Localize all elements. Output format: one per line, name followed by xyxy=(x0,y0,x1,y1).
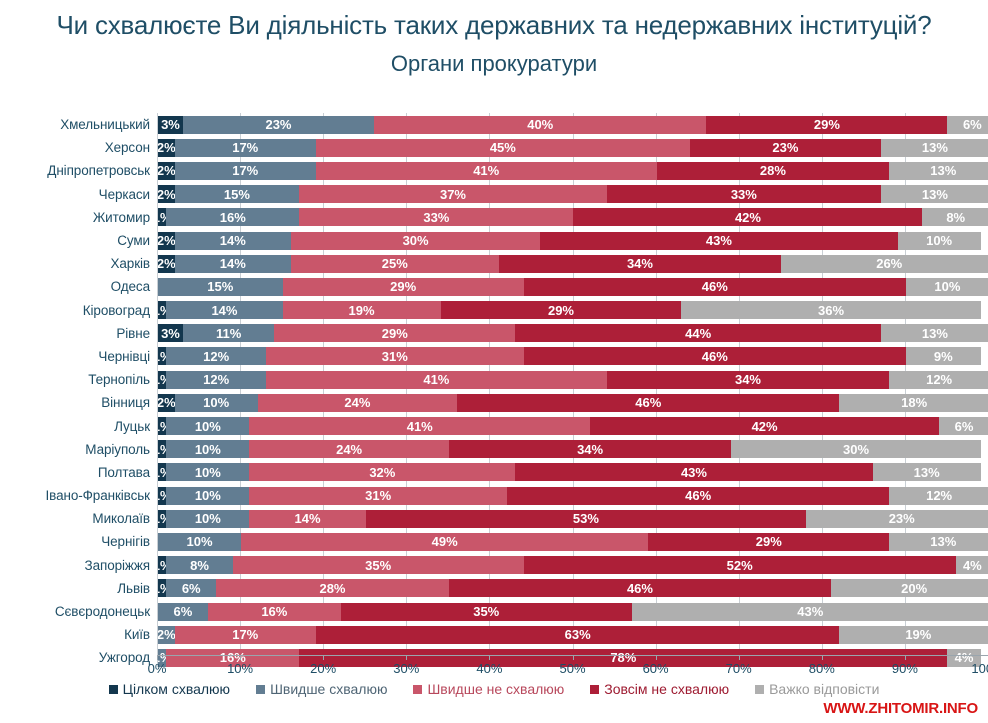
row-label: Сєвєродонецьк xyxy=(0,604,157,619)
x-tick-label: 60% xyxy=(643,661,669,676)
watermark: WWW.ZHITOMIR.INFO xyxy=(823,700,978,717)
bar-segment: 15% xyxy=(175,185,300,203)
bar-segment: 12% xyxy=(166,371,266,389)
chart-row: Дніпропетровськ2%17%41%28%13% xyxy=(0,159,988,182)
bar-segment: 1% xyxy=(158,347,166,365)
legend: Цілком схвалююШвидше схвалююШвидше не сх… xyxy=(0,681,988,697)
bar-segment: 46% xyxy=(507,487,889,505)
bar-segment: 10% xyxy=(166,417,249,435)
bar-segment: 10% xyxy=(158,533,241,551)
legend-item[interactable]: Швидше схвалюю xyxy=(256,681,387,697)
bar-segment: 1% xyxy=(158,417,166,435)
bar-segment: 13% xyxy=(881,324,988,342)
bar-segment: 30% xyxy=(731,440,980,458)
stacked-bar: 6%16%35%43% xyxy=(157,603,988,621)
row-label: Рівне xyxy=(0,326,157,341)
bar-segment: 33% xyxy=(607,185,881,203)
bar-segment: 31% xyxy=(266,347,524,365)
legend-swatch-icon xyxy=(413,685,422,694)
bar-segment: 2% xyxy=(158,232,175,250)
bar-rows: Хмельницький3%23%40%29%6%Херсон2%17%45%2… xyxy=(0,113,988,670)
bar-segment: 30% xyxy=(291,232,540,250)
legend-label: Швидше схвалюю xyxy=(270,681,387,697)
bar-segment: 1% xyxy=(158,208,166,226)
row-label: Кіровоград xyxy=(0,303,157,318)
row-label: Одеса xyxy=(0,279,157,294)
bar-segment: 24% xyxy=(258,394,457,412)
x-tick-label: 80% xyxy=(809,661,835,676)
row-label: Івано-Франківськ xyxy=(0,488,157,503)
legend-item[interactable]: Цілком схвалюю xyxy=(109,681,230,697)
chart-row: Полтава1%10%32%43%13% xyxy=(0,461,988,484)
bar-segment: 6% xyxy=(947,116,988,134)
bar-segment: 10% xyxy=(175,394,258,412)
bar-segment: 6% xyxy=(166,579,216,597)
bar-segment: 29% xyxy=(283,278,524,296)
x-tick-label: 70% xyxy=(726,661,752,676)
row-label: Дніпропетровськ xyxy=(0,163,157,178)
bar-segment: 46% xyxy=(524,278,906,296)
bar-segment: 28% xyxy=(657,162,890,180)
chart-row: Вінниця2%10%24%46%18% xyxy=(0,391,988,414)
row-label: Черкаси xyxy=(0,187,157,202)
bar-segment: 34% xyxy=(499,255,782,273)
bar-segment: 1% xyxy=(158,487,166,505)
legend-label: Швидше не схвалюю xyxy=(427,681,564,697)
bar-segment: 49% xyxy=(241,533,648,551)
bar-segment: 13% xyxy=(889,162,988,180)
stacked-bar: 1%8%35%52%4% xyxy=(157,556,988,574)
row-label: Харків xyxy=(0,256,157,271)
row-label: Київ xyxy=(0,627,157,642)
chart-subtitle: Органи прокуратури xyxy=(0,51,988,77)
chart-row: Миколаїв1%10%14%53%23% xyxy=(0,507,988,530)
x-tick xyxy=(489,655,490,660)
chart-row: Сєвєродонецьк6%16%35%43% xyxy=(0,600,988,623)
chart-row: Одеса15%29%46%10% xyxy=(0,275,988,298)
bar-segment: 12% xyxy=(889,371,988,389)
x-tick xyxy=(905,655,906,660)
bar-segment: 11% xyxy=(183,324,274,342)
x-tick-label: 90% xyxy=(892,661,918,676)
stacked-bar: 2%10%24%46%18% xyxy=(157,394,988,412)
row-label: Чернігів xyxy=(0,534,157,549)
bar-segment: 1% xyxy=(158,371,166,389)
bar-segment: 14% xyxy=(175,255,291,273)
bar-segment: 1% xyxy=(158,556,166,574)
bar-segment: 46% xyxy=(457,394,839,412)
stacked-bar: 1%12%41%34%12% xyxy=(157,371,988,389)
row-label: Хмельницький xyxy=(0,117,157,132)
bar-segment: 10% xyxy=(166,463,249,481)
bar-segment: 29% xyxy=(441,301,682,319)
bar-segment: 16% xyxy=(208,603,341,621)
bar-segment: 42% xyxy=(573,208,922,226)
x-tick xyxy=(822,655,823,660)
bar-segment: 63% xyxy=(316,626,840,644)
bar-segment: 41% xyxy=(266,371,607,389)
stacked-bar: 1%16%33%42%8% xyxy=(157,208,988,226)
bar-segment: 2% xyxy=(158,185,175,203)
bar-segment: 16% xyxy=(166,208,299,226)
title-block: Чи схвалюєте Ви діяльність таких державн… xyxy=(0,0,988,77)
bar-segment: 13% xyxy=(881,139,988,157)
row-label: Житомир xyxy=(0,210,157,225)
stacked-bar: 2%17%63%19% xyxy=(157,626,988,644)
chart-row: Кіровоград1%14%19%29%36% xyxy=(0,299,988,322)
bar-segment: 10% xyxy=(166,487,249,505)
bar-segment: 6% xyxy=(158,603,208,621)
bar-segment: 33% xyxy=(299,208,573,226)
stacked-bar: 1%10%14%53%23% xyxy=(157,510,988,528)
bar-segment: 35% xyxy=(341,603,632,621)
bar-segment: 32% xyxy=(249,463,515,481)
bar-segment: 10% xyxy=(906,278,988,296)
bar-segment: 23% xyxy=(183,116,374,134)
bar-segment: 13% xyxy=(881,185,988,203)
stacked-bar: 2%17%41%28%13% xyxy=(157,162,988,180)
row-label: Ужгород xyxy=(0,650,157,665)
x-tick-label: 100% xyxy=(971,661,988,676)
row-label: Чернівці xyxy=(0,349,157,364)
chart-row: Львів1%6%28%46%20% xyxy=(0,577,988,600)
chart-page: Чи схвалюєте Ви діяльність таких державн… xyxy=(0,0,988,723)
bar-segment: 19% xyxy=(283,301,441,319)
x-tick xyxy=(739,655,740,660)
row-label: Суми xyxy=(0,233,157,248)
bar-segment: 29% xyxy=(706,116,947,134)
bar-segment: 14% xyxy=(249,510,365,528)
bar-segment: 17% xyxy=(175,162,316,180)
bar-segment: 41% xyxy=(316,162,657,180)
stacked-bar: 10%49%29%13% xyxy=(157,533,988,551)
bar-segment: 10% xyxy=(166,440,249,458)
bar-segment: 12% xyxy=(889,487,988,505)
bar-segment: 10% xyxy=(166,510,249,528)
row-label: Луцьк xyxy=(0,419,157,434)
x-tick-label: 40% xyxy=(476,661,502,676)
bar-segment: 8% xyxy=(922,208,988,226)
bar-segment: 3% xyxy=(158,324,183,342)
chart-row: Тернопіль1%12%41%34%12% xyxy=(0,368,988,391)
stacked-bar: 1%10%32%43%13% xyxy=(157,463,988,481)
x-tick-label: 20% xyxy=(310,661,336,676)
plot-area: Хмельницький3%23%40%29%6%Херсон2%17%45%2… xyxy=(0,113,988,655)
legend-item[interactable]: Зовсім не схвалюю xyxy=(590,681,729,697)
bar-segment: 8% xyxy=(166,556,232,574)
stacked-bar: 2%14%25%34%26% xyxy=(157,255,988,273)
bar-segment: 14% xyxy=(166,301,282,319)
x-tick xyxy=(323,655,324,660)
page-title: Чи схвалюєте Ви діяльність таких державн… xyxy=(0,10,988,42)
bar-segment: 35% xyxy=(233,556,524,574)
bar-segment: 40% xyxy=(374,116,706,134)
bar-segment: 10% xyxy=(898,232,981,250)
x-axis-labels: 0%10%20%30%40%50%60%70%80%90%100% xyxy=(157,661,988,679)
bar-segment: 44% xyxy=(515,324,881,342)
bar-segment: 1% xyxy=(158,301,166,319)
row-label: Херсон xyxy=(0,140,157,155)
bar-segment: 36% xyxy=(681,301,980,319)
bar-segment: 2% xyxy=(158,162,175,180)
chart-row: Рівне3%11%29%44%13% xyxy=(0,322,988,345)
chart-row: Чернігів10%49%29%13% xyxy=(0,530,988,553)
row-label: Полтава xyxy=(0,465,157,480)
chart-row: Київ2%17%63%19% xyxy=(0,623,988,646)
legend-label: Важко відповісти xyxy=(769,681,879,697)
legend-swatch-icon xyxy=(755,685,764,694)
row-label: Запоріжжя xyxy=(0,558,157,573)
bar-segment: 15% xyxy=(158,278,283,296)
legend-label: Зовсім не схвалюю xyxy=(604,681,729,697)
x-tick xyxy=(406,655,407,660)
x-tick-label: 10% xyxy=(227,661,253,676)
bar-segment: 26% xyxy=(781,255,988,273)
stacked-bar: 3%11%29%44%13% xyxy=(157,324,988,342)
bar-segment: 1% xyxy=(158,440,166,458)
legend-swatch-icon xyxy=(256,685,265,694)
legend-swatch-icon xyxy=(109,685,118,694)
row-label: Львів xyxy=(0,581,157,596)
bar-segment: 2% xyxy=(158,394,175,412)
stacked-bar: 2%15%37%33%13% xyxy=(157,185,988,203)
stacked-bar: 1%6%28%46%20% xyxy=(157,579,988,597)
x-tick xyxy=(573,655,574,660)
bar-segment: 1% xyxy=(158,579,166,597)
bar-segment: 4% xyxy=(956,556,988,574)
bar-segment: 2% xyxy=(158,255,175,273)
legend-label: Цілком схвалюю xyxy=(123,681,230,697)
stacked-bar: 3%23%40%29%6% xyxy=(157,116,988,134)
x-tick xyxy=(656,655,657,660)
chart-row: Хмельницький3%23%40%29%6% xyxy=(0,113,988,136)
stacked-bar: 1%10%24%34%30% xyxy=(157,440,988,458)
stacked-bar: 2%14%30%43%10% xyxy=(157,232,988,250)
bar-segment: 20% xyxy=(831,579,988,597)
chart-row: Суми2%14%30%43%10% xyxy=(0,229,988,252)
bar-segment: 25% xyxy=(291,255,499,273)
bar-segment: 2% xyxy=(158,139,175,157)
chart-row: Житомир1%16%33%42%8% xyxy=(0,206,988,229)
bar-segment: 52% xyxy=(524,556,956,574)
row-label: Тернопіль xyxy=(0,372,157,387)
chart-row: Маріуполь1%10%24%34%30% xyxy=(0,438,988,461)
chart-row: Херсон2%17%45%23%13% xyxy=(0,136,988,159)
x-tick xyxy=(240,655,241,660)
bar-segment: 46% xyxy=(524,347,906,365)
bar-segment: 6% xyxy=(939,417,988,435)
row-label: Маріуполь xyxy=(0,442,157,457)
bar-segment: 14% xyxy=(175,232,291,250)
row-label: Миколаїв xyxy=(0,511,157,526)
bar-segment: 46% xyxy=(449,579,831,597)
x-tick-label: 50% xyxy=(559,661,585,676)
stacked-bar: 1%12%31%46%9% xyxy=(157,347,988,365)
stacked-bar: 1%10%41%42%6% xyxy=(157,417,988,435)
stacked-bar: 15%29%46%10% xyxy=(157,278,988,296)
chart-row: Запоріжжя1%8%35%52%4% xyxy=(0,554,988,577)
bar-segment: 9% xyxy=(906,347,981,365)
bar-segment: 13% xyxy=(873,463,981,481)
bar-segment: 1% xyxy=(158,510,166,528)
chart-row: Черкаси2%15%37%33%13% xyxy=(0,183,988,206)
bar-segment: 29% xyxy=(274,324,515,342)
bar-segment: 43% xyxy=(632,603,988,621)
chart-row: Луцьк1%10%41%42%6% xyxy=(0,414,988,437)
bar-segment: 17% xyxy=(175,139,316,157)
bar-segment: 28% xyxy=(216,579,449,597)
bar-segment: 19% xyxy=(839,626,988,644)
stacked-bar: 1%10%31%46%12% xyxy=(157,487,988,505)
bar-segment: 24% xyxy=(249,440,448,458)
stacked-bar: 1%14%19%29%36% xyxy=(157,301,988,319)
chart-row: Івано-Франківськ1%10%31%46%12% xyxy=(0,484,988,507)
bar-segment: 45% xyxy=(316,139,690,157)
bar-segment: 37% xyxy=(299,185,606,203)
bar-segment: 3% xyxy=(158,116,183,134)
x-tick-label: 0% xyxy=(148,661,167,676)
bar-segment: 53% xyxy=(366,510,806,528)
bar-segment: 23% xyxy=(690,139,881,157)
stacked-bar: 2%17%45%23%13% xyxy=(157,139,988,157)
bar-segment: 29% xyxy=(648,533,889,551)
bar-segment: 31% xyxy=(249,487,507,505)
bar-segment: 12% xyxy=(166,347,266,365)
bar-segment: 23% xyxy=(806,510,988,528)
chart-row: Чернівці1%12%31%46%9% xyxy=(0,345,988,368)
legend-item[interactable]: Важко відповісти xyxy=(755,681,879,697)
x-tick xyxy=(157,655,158,660)
bar-segment: 1% xyxy=(158,463,166,481)
legend-item[interactable]: Швидше не схвалюю xyxy=(413,681,564,697)
bar-segment: 17% xyxy=(175,626,316,644)
bar-segment: 13% xyxy=(889,533,988,551)
bar-segment: 42% xyxy=(590,417,939,435)
bar-segment: 2% xyxy=(158,626,175,644)
bar-segment: 34% xyxy=(449,440,732,458)
legend-swatch-icon xyxy=(590,685,599,694)
bar-segment: 43% xyxy=(540,232,897,250)
row-label: Вінниця xyxy=(0,395,157,410)
bar-segment: 34% xyxy=(607,371,890,389)
bar-segment: 41% xyxy=(249,417,590,435)
bar-segment: 43% xyxy=(515,463,872,481)
bar-segment: 18% xyxy=(839,394,988,412)
chart-row: Харків2%14%25%34%26% xyxy=(0,252,988,275)
x-tick-label: 30% xyxy=(393,661,419,676)
